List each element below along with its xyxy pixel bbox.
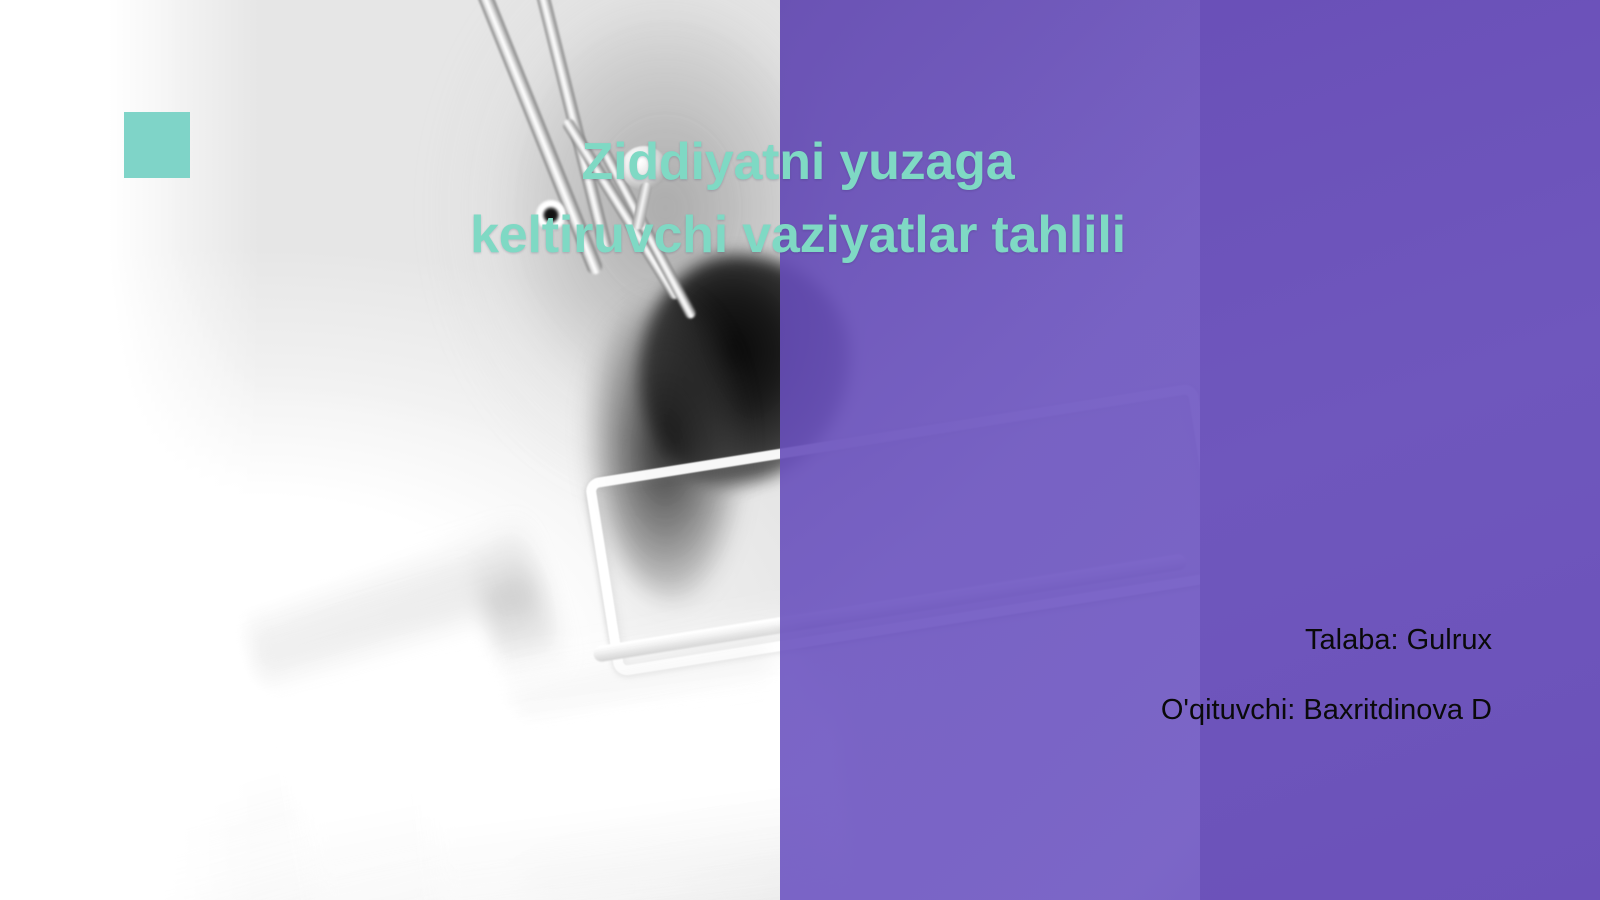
credits-block: Talaba: Gulrux O'qituvchi: Baxritdinova … <box>900 624 1492 727</box>
teacher-credit: O'qituvchi: Baxritdinova D <box>900 694 1492 726</box>
student-credit: Talaba: Gulrux <box>900 624 1492 656</box>
teal-square-accent <box>124 112 190 178</box>
presentation-slide: Ziddiyatni yuzaga keltiruvchi vaziyatlar… <box>0 0 1600 900</box>
credit-spacer <box>900 656 1492 694</box>
slide-title: Ziddiyatni yuzaga keltiruvchi vaziyatlar… <box>300 126 1296 272</box>
